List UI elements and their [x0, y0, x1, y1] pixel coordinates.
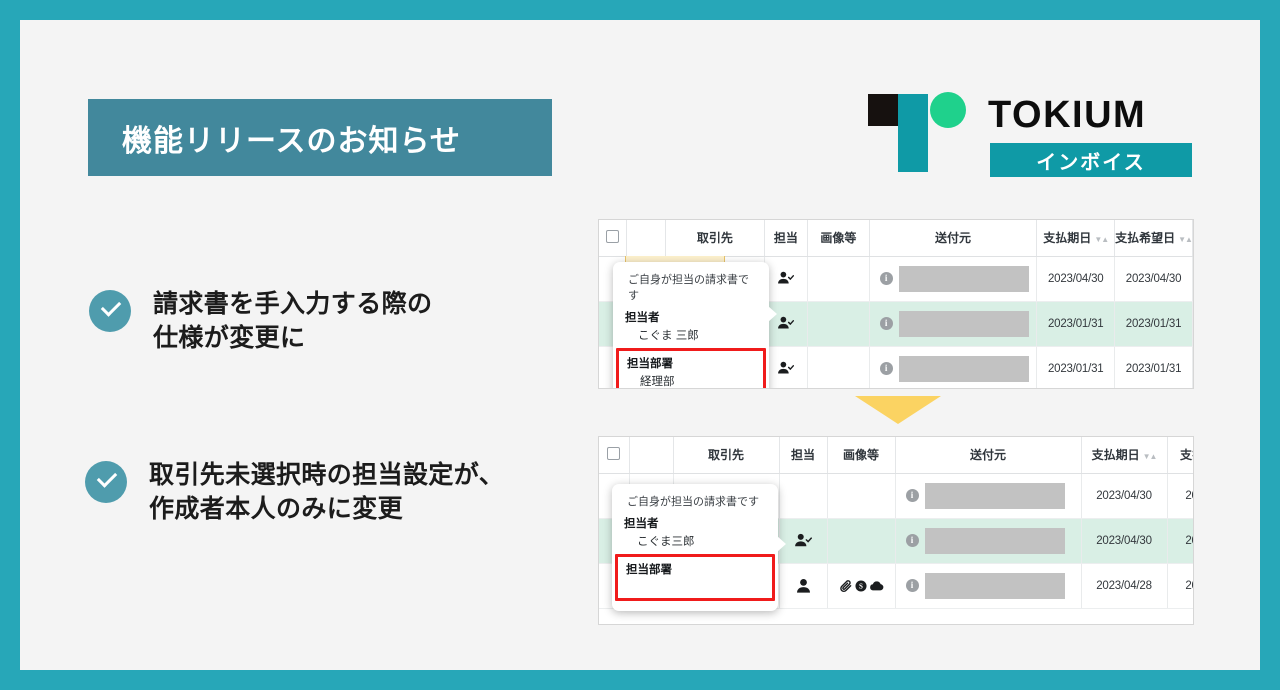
- row-images-cell[interactable]: [827, 518, 895, 563]
- row-sender-cell[interactable]: i: [869, 301, 1037, 346]
- person-check-icon: [777, 270, 794, 287]
- screenshot-before: 取引先 担当 画像等 送付元 支払期日▼▲ 支払希望日▼▲: [598, 219, 1194, 389]
- select-all-checkbox[interactable]: [607, 447, 620, 460]
- row-wish-date: 2023/04/3: [1167, 518, 1194, 563]
- row-due-date: 2023/04/28: [1081, 563, 1167, 608]
- row-images-cell[interactable]: [827, 473, 895, 518]
- info-icon[interactable]: i: [880, 317, 893, 330]
- check-circle-icon: [85, 461, 127, 503]
- person-icon: [796, 578, 811, 593]
- row-wish-date: 2023/01/31: [1115, 301, 1193, 346]
- column-header-partner[interactable]: 取引先: [673, 437, 779, 473]
- row-sender-cell[interactable]: i: [869, 346, 1037, 389]
- row-assignee-cell[interactable]: [764, 346, 808, 389]
- info-icon[interactable]: i: [906, 579, 919, 592]
- row-due-date: 2023/04/30: [1081, 518, 1167, 563]
- tooltip-lead-text: ご自身が担当の請求書です: [625, 271, 757, 303]
- row-wish-date: 2023/01/31: [1115, 346, 1193, 389]
- row-due-date: 2023/01/31: [1037, 346, 1115, 389]
- tooltip-assignee-value: こぐま 三郎: [625, 327, 757, 343]
- department-highlight-box: 担当部署: [615, 554, 775, 601]
- row-wish-date: 2023/04/30: [1115, 256, 1193, 301]
- tooltip-department-label: 担当部署: [626, 561, 764, 577]
- column-header-images[interactable]: 画像等: [808, 220, 869, 256]
- sender-redacted-value: [925, 483, 1065, 509]
- row-wish-date: 2023/04/3: [1167, 473, 1194, 518]
- feature-bullet-1: 請求書を手入力する際の 仕様が変更に: [89, 287, 432, 355]
- row-images-cell[interactable]: [808, 301, 869, 346]
- column-header-assignee[interactable]: 担当: [779, 437, 827, 473]
- tooltip-department-label: 担当部署: [627, 355, 755, 371]
- row-due-date: 2023/04/30: [1081, 473, 1167, 518]
- row-images-cell[interactable]: [808, 346, 869, 389]
- column-header-due-date[interactable]: 支払期日▼▲: [1037, 220, 1115, 256]
- tooltip-assignee-label: 担当者: [624, 515, 766, 531]
- tooltip-pointer: [768, 306, 777, 322]
- select-all-header[interactable]: [599, 437, 629, 473]
- down-arrow-icon: [855, 396, 941, 424]
- invoice-badge: インボイス: [990, 143, 1192, 177]
- feature-bullet-2: 取引先未選択時の担当設定が、 作成者本人のみに変更: [85, 458, 504, 526]
- row-sender-cell[interactable]: i: [895, 473, 1081, 518]
- table-header-row: 取引先 担当 画像等 送付元 支払期日▼▲ 支払希望日▼▲: [599, 220, 1193, 256]
- title-banner: 機能リリースのお知らせ: [88, 99, 552, 176]
- sender-redacted-value: [899, 311, 1029, 337]
- info-icon[interactable]: i: [906, 534, 919, 547]
- column-header-wish-date-label: 支払希望日: [1115, 231, 1175, 245]
- assignee-tooltip-after: ご自身が担当の請求書です 担当者 こぐま三郎 担当部署: [612, 484, 778, 611]
- assignee-tooltip-before: ご自身が担当の請求書です 担当者 こぐま 三郎 担当部署 経理部: [613, 262, 769, 389]
- row-assignee-cell[interactable]: [779, 518, 827, 563]
- column-header-wish-date[interactable]: 支払希望日▼▲: [1115, 220, 1193, 256]
- info-icon[interactable]: i: [880, 362, 893, 375]
- tooltip-assignee-label: 担当者: [625, 309, 757, 325]
- row-sender-cell[interactable]: i: [895, 563, 1081, 608]
- tooltip-department-value: 経理部: [627, 373, 755, 389]
- row-images-cell[interactable]: [808, 256, 869, 301]
- invoice-badge-label: インボイス: [1036, 146, 1145, 175]
- tokium-logo-mark: [868, 92, 968, 174]
- feature-bullet-1-text: 請求書を手入力する際の 仕様が変更に: [153, 287, 432, 355]
- sort-caret-icon[interactable]: ▼▲: [1094, 235, 1108, 244]
- sort-caret-icon[interactable]: ▼▲: [1178, 235, 1192, 244]
- info-icon[interactable]: i: [906, 489, 919, 502]
- sender-redacted-value: [899, 356, 1029, 382]
- row-assignee-cell[interactable]: [779, 473, 827, 518]
- column-header-due-date[interactable]: 支払期日▼▲: [1081, 437, 1167, 473]
- row-due-date: 2023/04/30: [1037, 256, 1115, 301]
- sender-redacted-value: [925, 528, 1065, 554]
- row-wish-date: 2023/04/2: [1167, 563, 1194, 608]
- tooltip-lead-text: ご自身が担当の請求書です: [624, 493, 766, 509]
- column-header-wish-date[interactable]: 支払希望日: [1167, 437, 1194, 473]
- column-header-sender[interactable]: 送付元: [869, 220, 1037, 256]
- row-assignee-cell[interactable]: [764, 256, 808, 301]
- slide: 機能リリースのお知らせ TOKIUM インボイス 請求書を手入力する際の 仕様が…: [0, 0, 1280, 690]
- row-sender-cell[interactable]: i: [895, 518, 1081, 563]
- column-header-due-date-label: 支払期日: [1043, 231, 1091, 245]
- column-header-images[interactable]: 画像等: [827, 437, 895, 473]
- screenshot-after: 取引先 担当 画像等 送付元 支払期日▼▲ 支払希望日 i 2023/04/30: [598, 436, 1194, 625]
- row-images-cell[interactable]: S: [827, 563, 895, 608]
- select-all-header[interactable]: [599, 220, 627, 256]
- person-check-icon: [777, 360, 794, 377]
- tokium-wordmark: TOKIUM: [988, 94, 1146, 137]
- row-assignee-cell[interactable]: [779, 563, 827, 608]
- column-header-due-date-label: 支払期日: [1092, 448, 1140, 462]
- spacer-header: [627, 220, 666, 256]
- column-header-partner[interactable]: 取引先: [666, 220, 764, 256]
- svg-text:S: S: [859, 582, 863, 590]
- select-all-checkbox[interactable]: [606, 230, 619, 243]
- feature-bullet-2-text: 取引先未選択時の担当設定が、 作成者本人のみに変更: [149, 458, 504, 526]
- paperclip-icon[interactable]: [839, 579, 853, 593]
- cloud-icon[interactable]: [869, 579, 884, 593]
- sort-caret-icon[interactable]: ▼▲: [1143, 452, 1157, 461]
- sender-redacted-value: [925, 573, 1065, 599]
- column-header-assignee[interactable]: 担当: [764, 220, 808, 256]
- tokium-logo: TOKIUM インボイス: [868, 90, 1192, 180]
- row-sender-cell[interactable]: i: [869, 256, 1037, 301]
- coin-icon[interactable]: S: [854, 579, 868, 593]
- check-circle-icon: [89, 290, 131, 332]
- person-check-icon: [794, 532, 812, 550]
- department-highlight-box: 担当部署 経理部: [616, 348, 766, 389]
- person-check-icon: [777, 315, 794, 332]
- sender-redacted-value: [899, 266, 1029, 292]
- info-icon[interactable]: i: [880, 272, 893, 285]
- page-title: 機能リリースのお知らせ: [88, 116, 461, 160]
- column-header-sender[interactable]: 送付元: [895, 437, 1081, 473]
- tooltip-department-value: [626, 579, 764, 593]
- tooltip-pointer: [777, 536, 786, 552]
- tooltip-assignee-value: こぐま三郎: [624, 533, 766, 549]
- table-header-row: 取引先 担当 画像等 送付元 支払期日▼▲ 支払希望日: [599, 437, 1194, 473]
- row-due-date: 2023/01/31: [1037, 301, 1115, 346]
- spacer-header: [629, 437, 673, 473]
